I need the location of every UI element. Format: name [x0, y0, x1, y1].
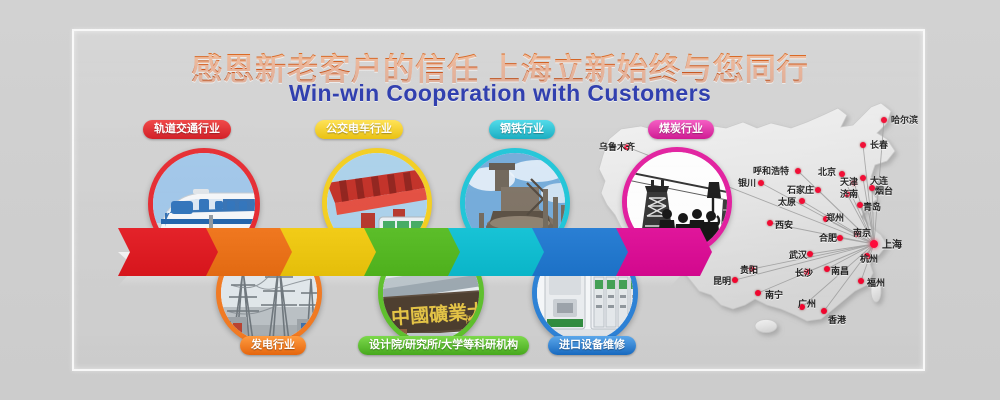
- city-dot-合肥[interactable]: [837, 235, 843, 241]
- city-dot-武汉[interactable]: [807, 251, 813, 257]
- city-dot-呼和浩特[interactable]: [795, 168, 801, 174]
- page-title-en: Win-win Cooperation with Customers: [0, 80, 1000, 107]
- pill-coal[interactable]: 煤炭行业: [648, 120, 714, 139]
- city-dot-昆明[interactable]: [732, 277, 738, 283]
- city-dot-太原[interactable]: [799, 198, 805, 204]
- pill-research[interactable]: 设计院/研究所/大学等科研机构: [358, 336, 529, 355]
- pill-bus-trolley[interactable]: 公交电车行业: [315, 120, 403, 139]
- city-dot-福州[interactable]: [858, 278, 864, 284]
- city-label-银川: 银川: [738, 176, 756, 189]
- city-dot-石家庄[interactable]: [815, 187, 821, 193]
- city-label-昆明: 昆明: [713, 274, 731, 287]
- city-label-呼和浩特: 呼和浩特: [753, 164, 789, 177]
- city-label-太原: 太原: [778, 195, 796, 208]
- city-label-南昌: 南昌: [831, 264, 849, 277]
- city-dot-哈尔滨[interactable]: [881, 117, 887, 123]
- city-label-福州: 福州: [867, 276, 885, 289]
- city-label-南宁: 南宁: [765, 288, 783, 301]
- city-label-贵阳: 贵阳: [740, 263, 758, 276]
- city-dot-长春[interactable]: [860, 142, 866, 148]
- city-label-济南: 济南: [840, 187, 858, 200]
- city-dot-香港[interactable]: [821, 308, 827, 314]
- pill-import-repair[interactable]: 进口设备维修: [548, 336, 636, 355]
- city-label-长沙: 长沙: [795, 266, 813, 279]
- city-dot-银川[interactable]: [758, 180, 764, 186]
- city-dot-南昌[interactable]: [824, 266, 830, 272]
- city-label-长春: 长春: [870, 138, 888, 151]
- city-label-上海: 上海: [882, 236, 902, 251]
- city-label-杭州: 杭州: [860, 252, 878, 265]
- city-label-广州: 广州: [798, 297, 816, 310]
- city-label-西安: 西安: [775, 218, 793, 231]
- city-label-北京: 北京: [818, 165, 836, 178]
- city-label-郑州: 郑州: [826, 211, 844, 224]
- city-dot-大连[interactable]: [860, 175, 866, 181]
- pill-power[interactable]: 发电行业: [240, 336, 306, 355]
- city-label-武汉: 武汉: [789, 248, 807, 261]
- city-dot-西安[interactable]: [767, 220, 773, 226]
- chevron-1: [118, 228, 218, 276]
- city-label-合肥: 合肥: [819, 231, 837, 244]
- city-label-香港: 香港: [828, 313, 846, 326]
- city-label-哈尔滨: 哈尔滨: [891, 113, 918, 126]
- city-label-烟台: 烟台: [875, 184, 893, 197]
- city-label-南京: 南京: [853, 226, 871, 239]
- promo-banner: 哈尔滨长春乌鲁木齐呼和浩特北京天津大连银川石家庄济南烟台太原青岛郑州西安南京合肥…: [0, 0, 1000, 400]
- chevron-band: [118, 228, 678, 276]
- pill-steel[interactable]: 钢铁行业: [489, 120, 555, 139]
- city-dot-上海[interactable]: [870, 240, 878, 248]
- city-label-青岛: 青岛: [863, 200, 881, 213]
- city-dot-南宁[interactable]: [755, 290, 761, 296]
- pill-rail-transit[interactable]: 轨道交通行业: [143, 120, 231, 139]
